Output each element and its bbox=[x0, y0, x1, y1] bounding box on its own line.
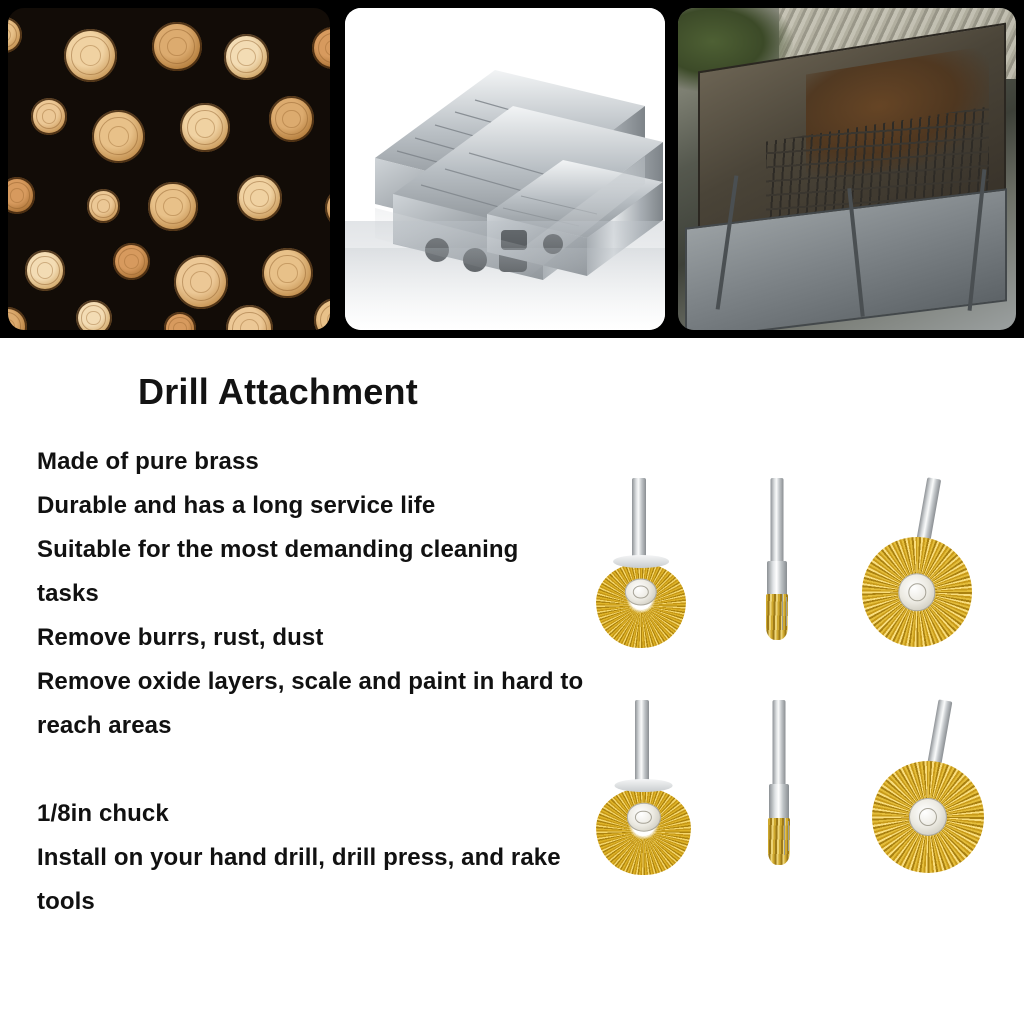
log-end bbox=[226, 305, 274, 330]
product-infographic-page: Drill Attachment Made of pure brassDurab… bbox=[0, 0, 1024, 1024]
log-end bbox=[312, 27, 330, 69]
stacked-logs-photo bbox=[8, 8, 330, 330]
brush-bristles-wheel bbox=[872, 761, 984, 873]
log-end bbox=[152, 22, 201, 71]
feature-list: Made of pure brassDurable and has a long… bbox=[37, 440, 637, 924]
log-end bbox=[8, 307, 27, 330]
brush-backing-plate bbox=[614, 779, 673, 792]
log-end bbox=[92, 110, 145, 163]
brush-shank bbox=[773, 700, 786, 787]
log-end bbox=[224, 34, 270, 80]
feature-line: tools bbox=[37, 880, 637, 924]
log-end bbox=[325, 187, 330, 229]
log-end bbox=[148, 182, 197, 231]
feature-line: reach areas bbox=[37, 704, 637, 748]
feature-line: Remove oxide layers, scale and paint in … bbox=[37, 660, 637, 704]
stray-bristle bbox=[788, 821, 789, 851]
stray-bristle bbox=[786, 597, 787, 627]
wheel-brush-top-right bbox=[862, 478, 972, 643]
aluminum-extrusion-photo bbox=[345, 8, 665, 330]
log-end bbox=[31, 98, 68, 135]
log-end bbox=[8, 17, 22, 53]
brush-ferrule bbox=[769, 784, 789, 821]
extrusion-reflection bbox=[345, 221, 665, 330]
log-end bbox=[64, 29, 117, 82]
brush-bristles-cup bbox=[596, 788, 691, 876]
brush-hub bbox=[626, 803, 660, 832]
end-brush-bottom-middle bbox=[752, 700, 806, 868]
brush-shank bbox=[632, 478, 646, 558]
log-end bbox=[237, 175, 283, 221]
log-end bbox=[8, 177, 35, 214]
log-end bbox=[164, 312, 197, 330]
cup-brush-top-left bbox=[596, 478, 686, 648]
log-end bbox=[25, 250, 66, 291]
grill-image-content bbox=[678, 8, 1016, 330]
logs-image-content bbox=[8, 8, 330, 330]
log-end bbox=[262, 248, 312, 298]
photo-strip bbox=[0, 0, 1024, 338]
feature-line: 1/8in chuck bbox=[37, 792, 637, 836]
wheel-brush-bottom-right bbox=[872, 700, 984, 870]
cup-brush-bottom-left bbox=[596, 700, 691, 875]
page-title: Drill Attachment bbox=[138, 371, 418, 413]
log-end bbox=[87, 189, 121, 223]
brush-ferrule bbox=[767, 561, 787, 597]
brush-backing-plate bbox=[613, 555, 669, 568]
log-end bbox=[269, 96, 315, 142]
stray-bristle bbox=[782, 594, 783, 630]
feature-line: Made of pure brass bbox=[37, 440, 637, 484]
end-brush-top-middle bbox=[750, 478, 804, 643]
dirty-bbq-grill-photo bbox=[678, 8, 1016, 330]
feature-line: Durable and has a long service life bbox=[37, 484, 637, 528]
stray-bristle bbox=[784, 818, 785, 855]
brush-bristles-wheel bbox=[862, 537, 972, 647]
log-end bbox=[314, 298, 330, 330]
log-end bbox=[180, 103, 229, 152]
bristle-field bbox=[596, 563, 686, 648]
brush-hub bbox=[909, 798, 947, 836]
feature-line: tasks bbox=[37, 572, 637, 616]
feature-spacer bbox=[37, 748, 637, 792]
feature-line: Install on your hand drill, drill press,… bbox=[37, 836, 637, 880]
brush-bristles-cup bbox=[596, 563, 686, 648]
log-end bbox=[113, 243, 150, 280]
log-end bbox=[174, 255, 228, 309]
brush-shank bbox=[771, 478, 784, 564]
feature-line: Remove burrs, rust, dust bbox=[37, 616, 637, 660]
brush-shank bbox=[635, 700, 649, 782]
feature-line: Suitable for the most demanding cleaning bbox=[37, 528, 637, 572]
log-end bbox=[76, 300, 112, 330]
